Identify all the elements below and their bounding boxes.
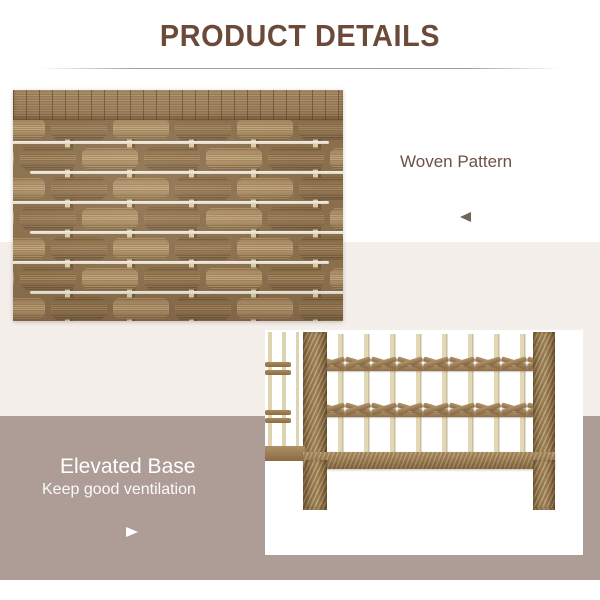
- woven-strand: [13, 146, 14, 171]
- woven-strand: [175, 236, 231, 261]
- woven-strand: [144, 146, 200, 171]
- woven-strand-row: [13, 174, 343, 204]
- woven-strand: [299, 236, 343, 261]
- woven-strand: [268, 146, 324, 171]
- header: PRODUCT DETAILS: [0, 0, 600, 70]
- woven-strand: [268, 206, 324, 231]
- woven-strand: [237, 236, 293, 261]
- woven-strand: [330, 146, 343, 171]
- woven-strand: [51, 296, 107, 321]
- woven-strand: [82, 266, 138, 291]
- side-lattice-bar: [265, 418, 291, 423]
- elevated-base-title: Elevated Base: [60, 455, 195, 479]
- woven-strand: [20, 266, 76, 291]
- background-band-white-bottom: [0, 580, 600, 600]
- woven-strand: [299, 176, 343, 201]
- woven-strand-row: [13, 204, 343, 234]
- woven-strand: [13, 206, 14, 231]
- woven-strand: [175, 176, 231, 201]
- arrow-left-icon: [460, 212, 471, 222]
- x-lattice-row-top: [323, 358, 537, 380]
- woven-strand: [82, 206, 138, 231]
- woven-strand: [206, 146, 262, 171]
- side-rail: [265, 446, 305, 461]
- woven-strand: [175, 296, 231, 321]
- woven-strand: [113, 176, 169, 201]
- woven-strand: [144, 266, 200, 291]
- page-title: PRODUCT DETAILS: [21, 18, 579, 54]
- woven-strand: [206, 206, 262, 231]
- woven-strand: [299, 296, 343, 321]
- side-panel: [265, 332, 299, 454]
- woven-strand: [330, 266, 343, 291]
- woven-strand: [13, 296, 45, 321]
- woven-strand: [20, 146, 76, 171]
- leg-left: [305, 460, 327, 508]
- woven-strand: [13, 236, 45, 261]
- leg-right: [533, 460, 555, 508]
- woven-strand: [113, 296, 169, 321]
- woven-strand-row: [13, 234, 343, 264]
- product-details-page: PRODUCT DETAILS Woven Pattern Elevated B…: [0, 0, 600, 600]
- woven-strand: [82, 146, 138, 171]
- woven-strand-rows: [13, 114, 343, 321]
- woven-strand: [268, 266, 324, 291]
- woven-strand: [113, 236, 169, 261]
- woven-pattern-image: [13, 90, 343, 321]
- horizontal-rail: [303, 452, 555, 469]
- woven-strand: [144, 206, 200, 231]
- woven-strand: [51, 236, 107, 261]
- side-lattice-bar: [265, 362, 291, 367]
- x-lattice-row-bottom: [323, 404, 537, 426]
- furniture-illustration: [265, 330, 583, 555]
- woven-strand: [330, 206, 343, 231]
- woven-strand-row: [13, 264, 343, 294]
- woven-strand: [206, 266, 262, 291]
- side-panel-slats: [265, 332, 299, 454]
- woven-strand-row: [13, 294, 343, 321]
- woven-strand-row: [13, 144, 343, 174]
- woven-top-border-band: [13, 90, 343, 120]
- vertical-slat-field: [325, 334, 535, 452]
- side-lattice-bar: [265, 370, 291, 375]
- woven-strand: [237, 296, 293, 321]
- woven-strand: [13, 266, 14, 291]
- woven-strand: [237, 176, 293, 201]
- woven-strand: [51, 176, 107, 201]
- side-lattice-bar: [265, 410, 291, 415]
- title-divider: [40, 68, 560, 69]
- woven-strand: [20, 206, 76, 231]
- arrow-right-icon: [126, 527, 138, 537]
- elevated-base-photo: [265, 330, 583, 555]
- woven-pattern-label: Woven Pattern: [400, 152, 512, 172]
- elevated-base-subtitle: Keep good ventilation: [42, 481, 196, 499]
- woven-strand: [13, 176, 45, 201]
